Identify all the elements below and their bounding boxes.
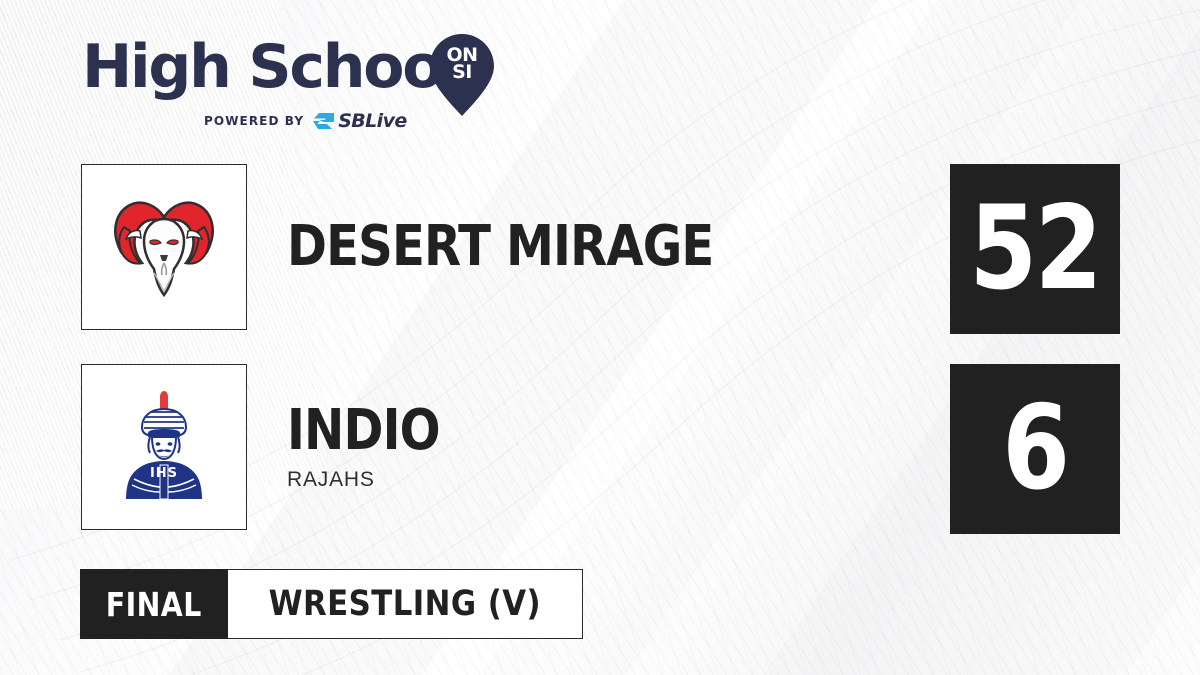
status-badge-label: FINAL [106,585,202,624]
game-status-bar: FINAL WRESTLING (V) [80,569,583,639]
high-school-on-si-logo: High School ON SI POWERED BY SBLive [82,36,512,136]
team-info: DESERT MIRAGE [287,164,907,330]
svg-text:IHS: IHS [150,466,178,481]
team-logo-card: IHS [81,364,247,530]
ram-mascot-logo [82,165,246,329]
sblive-s-icon [313,112,335,130]
sblive-italic-text: ive [377,110,407,132]
team-score-box: 6 [950,364,1120,534]
pin-line-si: SI [429,64,495,81]
status-badge: FINAL [80,569,228,639]
rajah-mascot-logo: IHS [82,365,246,529]
sport-label: WRESTLING (V) [269,584,542,624]
pin-text: ON SI [429,47,495,81]
team-logo-card [81,164,247,330]
sport-label-panel: WRESTLING (V) [228,569,583,639]
sblive-bold-text: SBL [338,110,376,132]
powered-by-row: POWERED BY SBLive [204,110,407,132]
team-mascot-name: RAJAHS [287,468,907,492]
team-name: DESERT MIRAGE [287,218,820,276]
powered-by-label: POWERED BY [204,114,304,128]
team-score: 52 [970,191,1101,307]
sblive-logo: SBLive [313,110,406,132]
team-score: 6 [1002,391,1067,507]
on-si-pin-icon: ON SI [429,34,495,116]
team-score-box: 52 [950,164,1120,334]
team-name: INDIO [287,402,820,460]
scoreboard-graphic: High School ON SI POWERED BY SBLive [0,0,1200,675]
sblive-wordmark: SBLive [338,110,406,132]
team-info: INDIO RAJAHS [287,364,907,530]
